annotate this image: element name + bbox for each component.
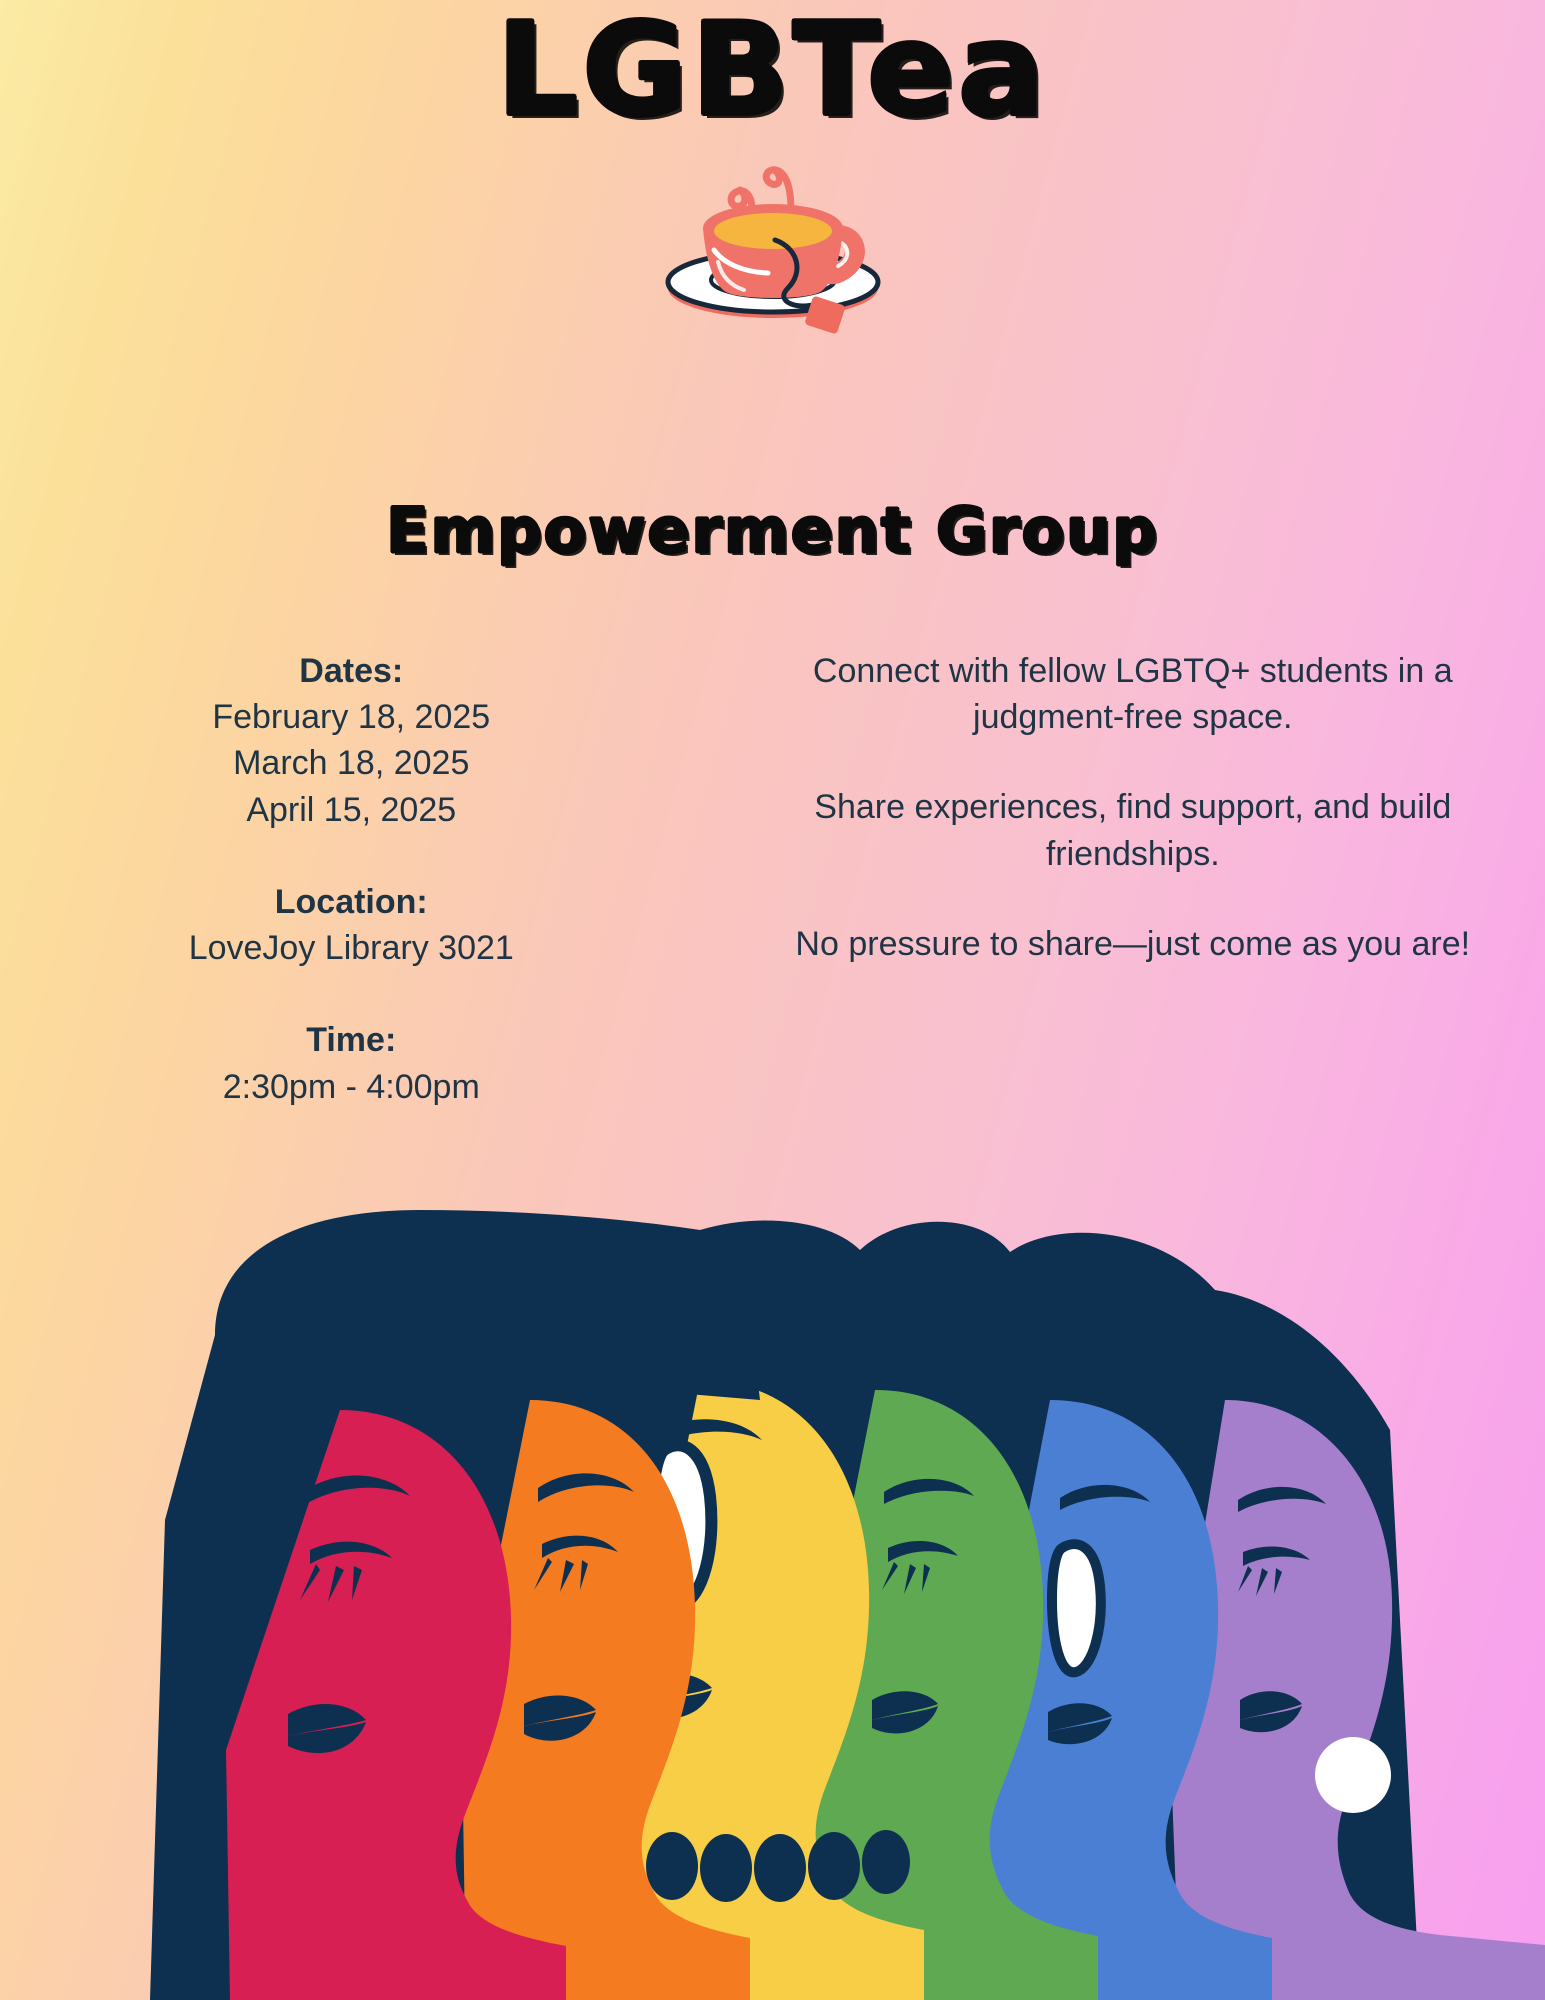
date-value: April 15, 2025 xyxy=(0,787,703,833)
blurb-no-pressure: No pressure to share—just come as you ar… xyxy=(781,921,1486,967)
teacup-icon xyxy=(648,132,898,342)
dates-group: Dates: February 18, 2025 March 18, 2025 … xyxy=(0,648,703,833)
date-value: February 18, 2025 xyxy=(0,694,703,740)
blurb-share: Share experiences, find support, and bui… xyxy=(781,784,1486,876)
blurb-connect: Connect with fellow LGBTQ+ students in a… xyxy=(781,648,1486,740)
location-label: Location: xyxy=(0,879,703,925)
poster-title-area: LGBTea xyxy=(0,4,1545,138)
dates-label: Dates: xyxy=(0,648,703,694)
eye-shape xyxy=(1052,1544,1101,1672)
schedule-column: Dates: February 18, 2025 March 18, 2025 … xyxy=(0,648,773,1156)
location-value: LoveJoy Library 3021 xyxy=(0,925,703,971)
details-section: Dates: February 18, 2025 March 18, 2025 … xyxy=(0,648,1545,1156)
purple-face xyxy=(1170,1400,1545,2000)
page-title: LGBTea xyxy=(497,4,1049,138)
earring-icon xyxy=(1315,1737,1391,1813)
poster-canvas: LGBTea Empowerment Group Dates: xyxy=(0,0,1545,2000)
location-group: Location: LoveJoy Library 3021 xyxy=(0,879,703,971)
poster-subtitle-area: Empowerment Group xyxy=(0,494,1545,567)
rainbow-profile-faces-illustration xyxy=(0,1100,1545,2000)
page-subtitle: Empowerment Group xyxy=(386,494,1158,567)
time-label: Time: xyxy=(0,1017,703,1063)
time-group: Time: 2:30pm - 4:00pm xyxy=(0,1017,703,1109)
date-value: March 18, 2025 xyxy=(0,740,703,786)
description-column: Connect with fellow LGBTQ+ students in a… xyxy=(773,648,1545,1156)
